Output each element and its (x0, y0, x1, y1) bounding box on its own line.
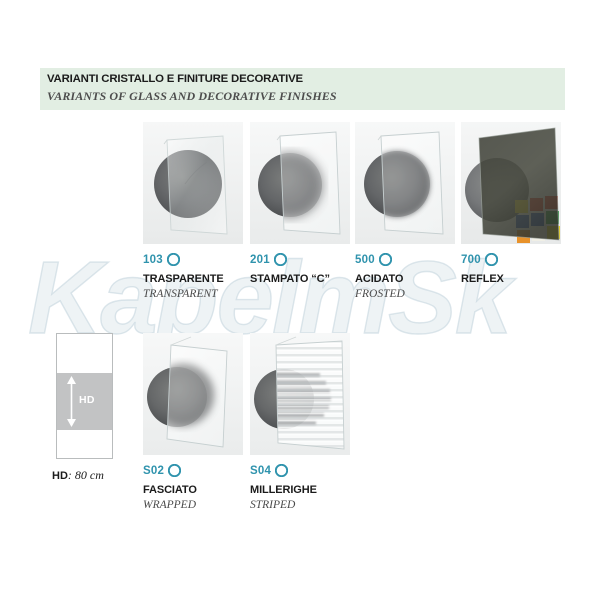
drop-swirl-icon (485, 253, 498, 266)
sample-code-row: 201 (250, 253, 287, 266)
drop-swirl-icon (168, 464, 181, 477)
sample-code: 201 (250, 254, 270, 266)
sample-name-it: ACIDATO (355, 273, 403, 285)
sample-code-row: S02 (143, 464, 181, 477)
drop-swirl-icon (379, 253, 392, 266)
sample-code-row: 500 (355, 253, 392, 266)
sample-name-it: FASCIATO (143, 484, 197, 496)
sample-name-it: TRASPARENTE (143, 273, 224, 285)
sample-code: 700 (461, 254, 481, 266)
hd-double-arrow-icon (66, 376, 77, 427)
sample-card-S02[interactable]: S02 FASCIATO WRAPPED (143, 333, 253, 513)
hd-diagram: HD (56, 333, 113, 459)
sample-card-201[interactable]: 201 STAMPATO “C” (250, 122, 360, 302)
sample-code: 500 (355, 254, 375, 266)
sample-code-row: 700 (461, 253, 498, 266)
sample-code: S04 (250, 465, 271, 477)
sample-card-700[interactable]: 700 REFLEX (461, 122, 571, 302)
drop-swirl-icon (275, 464, 288, 477)
sample-card-500[interactable]: 500 ACIDATO FROSTED (355, 122, 465, 302)
sample-code: S02 (143, 465, 164, 477)
hd-caption-bold: HD (52, 470, 68, 482)
drop-swirl-icon (167, 253, 180, 266)
sample-name-it: MILLERIGHE (250, 484, 317, 496)
page-title: VARIANTI CRISTALLO E FINITURE DECORATIVE (47, 73, 303, 85)
sample-image-transparent (143, 122, 243, 244)
sample-card-103[interactable]: 103 TRASPARENTE TRANSPARENT (143, 122, 253, 302)
sample-code-row: S04 (250, 464, 288, 477)
sample-image-striped (250, 333, 350, 455)
drop-swirl-icon (274, 253, 287, 266)
catalog-page: KapelmSk VARIANTI CRISTALLO E FINITURE D… (0, 0, 600, 600)
sample-image-wrapped (143, 333, 243, 455)
page-subtitle: VARIANTS OF GLASS AND DECORATIVE FINISHE… (47, 89, 337, 104)
section-header-band: VARIANTI CRISTALLO E FINITURE DECORATIVE… (40, 68, 565, 110)
sample-name-en: TRANSPARENT (143, 288, 218, 300)
sample-name-en: WRAPPED (143, 499, 196, 511)
hd-caption: HD: 80 cm (52, 468, 104, 483)
sample-image-reflex (461, 122, 561, 244)
sample-card-S04[interactable]: S04 MILLERIGHE STRIPED (250, 333, 360, 513)
sample-code: 103 (143, 254, 163, 266)
sample-image-stamped-c (250, 122, 350, 244)
sample-name-it: STAMPATO “C” (250, 273, 330, 285)
sample-image-frosted (355, 122, 455, 244)
sample-name-en: FROSTED (355, 288, 405, 300)
sample-name-en: STRIPED (250, 499, 295, 511)
sample-code-row: 103 (143, 253, 180, 266)
sample-name-it: REFLEX (461, 273, 504, 285)
hd-diagram-label: HD (79, 394, 95, 406)
hd-caption-value: : 80 cm (68, 468, 104, 482)
